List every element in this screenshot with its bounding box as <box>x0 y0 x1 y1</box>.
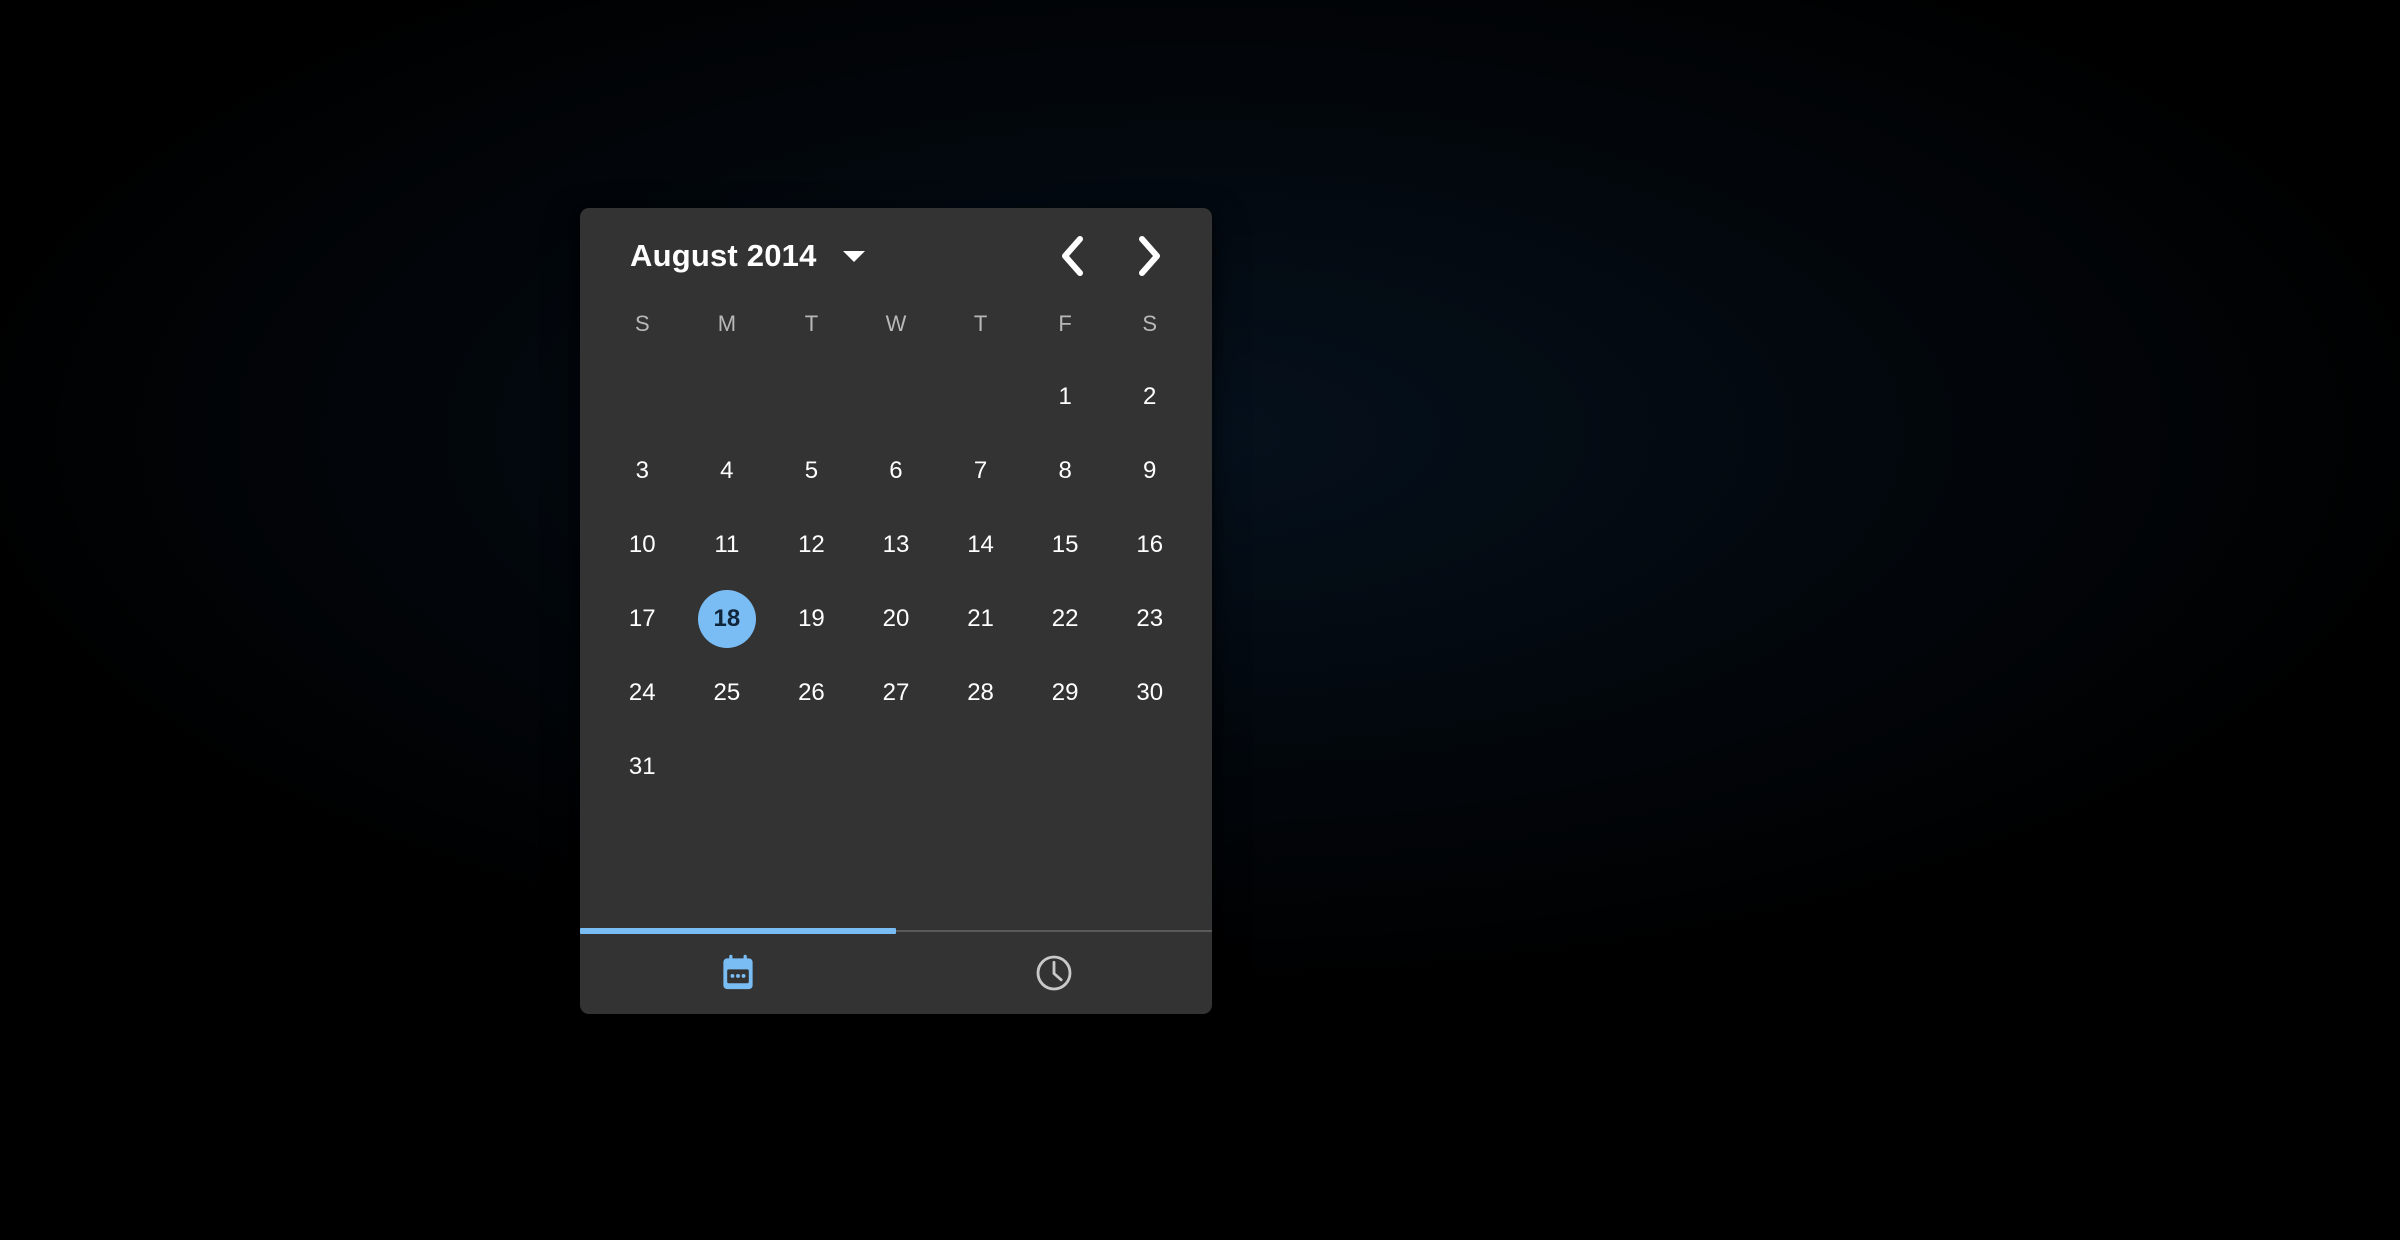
empty-day <box>698 368 756 426</box>
day-5[interactable]: 5 <box>782 442 840 500</box>
date-cell: 21 <box>938 582 1023 656</box>
day-16[interactable]: 16 <box>1121 516 1179 574</box>
date-cell: 2 <box>1107 360 1192 434</box>
empty-day <box>782 368 840 426</box>
date-cell: 27 <box>854 656 939 730</box>
weekday-label-1: M <box>685 306 770 342</box>
tab-list <box>580 932 1212 1014</box>
day-3[interactable]: 3 <box>613 442 671 500</box>
weekday-label-5: F <box>1023 306 1108 342</box>
date-cell: 6 <box>854 434 939 508</box>
day-6[interactable]: 6 <box>867 442 925 500</box>
date-cell: 26 <box>769 656 854 730</box>
month-year-title[interactable]: August 2014 <box>630 238 817 274</box>
date-cell-empty <box>600 360 685 434</box>
date-cell: 5 <box>769 434 854 508</box>
date-cell: 20 <box>854 582 939 656</box>
day-10[interactable]: 10 <box>613 516 671 574</box>
day-2[interactable]: 2 <box>1121 368 1179 426</box>
weekday-label-4: T <box>938 306 1023 342</box>
day-23[interactable]: 23 <box>1121 590 1179 648</box>
calendar-icon <box>720 954 756 992</box>
date-cell: 16 <box>1107 508 1192 582</box>
date-cell-empty <box>769 360 854 434</box>
date-cell: 9 <box>1107 434 1192 508</box>
day-24[interactable]: 24 <box>613 664 671 722</box>
date-cell: 11 <box>685 508 770 582</box>
day-28[interactable]: 28 <box>952 664 1010 722</box>
weekday-header-row: SMTWTFS <box>600 306 1192 342</box>
day-17[interactable]: 17 <box>613 590 671 648</box>
date-cell: 18 <box>685 582 770 656</box>
day-31[interactable]: 31 <box>613 738 671 796</box>
date-cell: 14 <box>938 508 1023 582</box>
day-12[interactable]: 12 <box>782 516 840 574</box>
day-9[interactable]: 9 <box>1121 442 1179 500</box>
date-cell: 8 <box>1023 434 1108 508</box>
date-cell: 17 <box>600 582 685 656</box>
date-cell: 23 <box>1107 582 1192 656</box>
date-cell: 30 <box>1107 656 1192 730</box>
empty-day <box>952 368 1010 426</box>
date-cell: 3 <box>600 434 685 508</box>
empty-day <box>613 368 671 426</box>
date-cell-empty <box>854 360 939 434</box>
date-cell: 29 <box>1023 656 1108 730</box>
day-4[interactable]: 4 <box>698 442 756 500</box>
day-11[interactable]: 11 <box>698 516 756 574</box>
date-grid: 1234567891011121314151617181920212223242… <box>600 360 1192 804</box>
date-cell: 7 <box>938 434 1023 508</box>
day-22[interactable]: 22 <box>1036 590 1094 648</box>
weekday-label-6: S <box>1107 306 1192 342</box>
date-cell-empty <box>938 360 1023 434</box>
day-27[interactable]: 27 <box>867 664 925 722</box>
date-cell: 31 <box>600 730 685 804</box>
previous-month-button[interactable] <box>1050 233 1096 279</box>
weekday-label-3: W <box>854 306 939 342</box>
day-1[interactable]: 1 <box>1036 368 1094 426</box>
date-cell: 13 <box>854 508 939 582</box>
tab-time[interactable] <box>896 932 1212 1014</box>
day-26[interactable]: 26 <box>782 664 840 722</box>
date-picker-dialog: August 2014 SMTWTFS 12345678910111213141… <box>580 208 1212 1014</box>
date-cell: 15 <box>1023 508 1108 582</box>
selected-day-18[interactable]: 18 <box>698 590 756 648</box>
day-25[interactable]: 25 <box>698 664 756 722</box>
date-picker-nav <box>1050 233 1212 279</box>
date-cell: 24 <box>600 656 685 730</box>
empty-day <box>867 368 925 426</box>
day-7[interactable]: 7 <box>952 442 1010 500</box>
date-cell: 12 <box>769 508 854 582</box>
date-cell: 10 <box>600 508 685 582</box>
date-cell: 1 <box>1023 360 1108 434</box>
date-cell: 19 <box>769 582 854 656</box>
date-cell: 28 <box>938 656 1023 730</box>
day-21[interactable]: 21 <box>952 590 1010 648</box>
app-backdrop: August 2014 SMTWTFS 12345678910111213141… <box>0 0 2400 1240</box>
next-month-button[interactable] <box>1126 233 1172 279</box>
day-13[interactable]: 13 <box>867 516 925 574</box>
tab-date[interactable] <box>580 932 896 1014</box>
chevron-down-icon[interactable] <box>843 251 865 262</box>
date-picker-tabbar <box>580 930 1212 1014</box>
date-cell: 25 <box>685 656 770 730</box>
date-cell-empty <box>685 360 770 434</box>
date-cell: 4 <box>685 434 770 508</box>
day-29[interactable]: 29 <box>1036 664 1094 722</box>
day-8[interactable]: 8 <box>1036 442 1094 500</box>
date-picker-header: August 2014 <box>580 208 1212 304</box>
date-cell: 22 <box>1023 582 1108 656</box>
weekday-label-2: T <box>769 306 854 342</box>
day-15[interactable]: 15 <box>1036 516 1094 574</box>
day-14[interactable]: 14 <box>952 516 1010 574</box>
day-30[interactable]: 30 <box>1121 664 1179 722</box>
clock-icon <box>1034 953 1074 993</box>
day-20[interactable]: 20 <box>867 590 925 648</box>
weekday-label-0: S <box>600 306 685 342</box>
day-19[interactable]: 19 <box>782 590 840 648</box>
